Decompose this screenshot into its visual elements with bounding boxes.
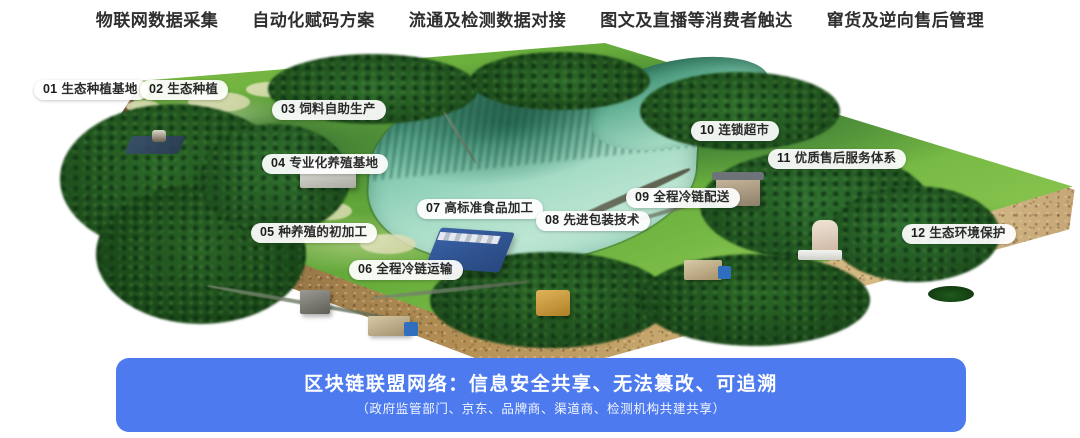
blockchain-banner: 区块链联盟网络：信息安全共享、无法篡改、可追溯 （政府监管部门、京东、品牌商、渠… bbox=[116, 358, 966, 432]
map-label-01-number: 01 bbox=[43, 83, 57, 96]
forest-bottom-right bbox=[640, 254, 870, 346]
header-item-3: 图文及直播等消费者触达 bbox=[600, 12, 793, 29]
map-label-07[interactable]: 07 高标准食品加工 bbox=[417, 199, 543, 219]
header-item-0: 物联网数据采集 bbox=[96, 12, 219, 29]
grazing-animal-02 bbox=[152, 130, 166, 142]
map-label-07-text: 高标准食品加工 bbox=[444, 202, 533, 215]
map-label-02-number: 02 bbox=[149, 83, 163, 96]
service-desk-11 bbox=[798, 250, 842, 260]
forest-top-right bbox=[470, 52, 650, 110]
header-item-2: 流通及检测数据对接 bbox=[409, 12, 567, 29]
map-label-06-text: 全程冷链运输 bbox=[376, 263, 452, 276]
map-label-08-text: 先进包装技术 bbox=[563, 214, 639, 227]
header-bar: 物联网数据采集 自动化赋码方案 流通及检测数据对接 图文及直播等消费者触达 窜货… bbox=[0, 0, 1080, 40]
infographic-root: 物联网数据采集 自动化赋码方案 流通及检测数据对接 图文及直播等消费者触达 窜货… bbox=[0, 0, 1080, 438]
map-label-05-number: 05 bbox=[260, 226, 274, 239]
primary-processing-plant bbox=[300, 290, 330, 314]
map-label-04-number: 04 bbox=[271, 157, 285, 170]
map-label-11-number: 11 bbox=[777, 152, 791, 165]
map-label-10-text: 连锁超市 bbox=[718, 124, 769, 137]
map-label-04-text: 专业化养殖基地 bbox=[289, 157, 378, 170]
map-label-11[interactable]: 11 优质售后服务体系 bbox=[768, 149, 906, 169]
cold-chain-truck-06-cab bbox=[404, 322, 418, 336]
map-label-07-number: 07 bbox=[426, 202, 440, 215]
cold-chain-truck-09 bbox=[684, 260, 722, 280]
map-label-03-text: 饲料自助生产 bbox=[299, 103, 375, 116]
map-label-12-text: 生态环境保护 bbox=[929, 227, 1005, 240]
map-label-09[interactable]: 09 全程冷链配送 bbox=[626, 188, 740, 208]
map-label-09-number: 09 bbox=[635, 191, 649, 204]
map-label-06[interactable]: 06 全程冷链运输 bbox=[349, 260, 463, 280]
cold-chain-truck-09-cab bbox=[718, 266, 731, 279]
header-item-1: 自动化赋码方案 bbox=[252, 12, 375, 29]
map-label-10[interactable]: 10 连锁超市 bbox=[691, 121, 779, 141]
blockchain-banner-title: 区块链联盟网络：信息安全共享、无法篡改、可追溯 bbox=[304, 375, 778, 394]
map-label-04[interactable]: 04 专业化养殖基地 bbox=[262, 154, 388, 174]
map-label-02[interactable]: 02 生态种植 bbox=[140, 80, 228, 100]
header-item-4: 窜货及逆向售后管理 bbox=[827, 12, 985, 29]
supermarket-roof-10 bbox=[712, 172, 764, 180]
map-label-02-text: 生态种植 bbox=[167, 83, 218, 96]
blockchain-banner-subtitle: （政府监管部门、京东、品牌商、渠道商、检测机构共建共享） bbox=[356, 403, 726, 416]
map-label-11-text: 优质售后服务体系 bbox=[795, 152, 897, 165]
map-label-05[interactable]: 05 种养殖的初加工 bbox=[251, 223, 377, 243]
map-label-06-number: 06 bbox=[358, 263, 372, 276]
packaging-facility-08 bbox=[536, 290, 570, 316]
map-label-09-text: 全程冷链配送 bbox=[653, 191, 729, 204]
map-label-10-number: 10 bbox=[700, 124, 714, 137]
map-label-03[interactable]: 03 饲料自助生产 bbox=[272, 100, 386, 120]
map-label-08[interactable]: 08 先进包装技术 bbox=[536, 211, 650, 231]
map-label-01[interactable]: 01 生态种植基地 bbox=[34, 80, 148, 100]
conservation-trees-12 bbox=[928, 286, 974, 302]
map-label-03-number: 03 bbox=[281, 103, 295, 116]
landscape-illustration: 01 生态种植基地 02 生态种植 03 饲料自助生产 04 专业化养殖基地 0… bbox=[0, 38, 1080, 368]
map-label-12[interactable]: 12 生态环境保护 bbox=[902, 224, 1016, 244]
map-label-12-number: 12 bbox=[911, 227, 925, 240]
map-label-05-text: 种养殖的初加工 bbox=[278, 226, 367, 239]
map-label-08-number: 08 bbox=[545, 214, 559, 227]
service-agent-11 bbox=[812, 220, 838, 254]
map-label-01-text: 生态种植基地 bbox=[61, 83, 137, 96]
